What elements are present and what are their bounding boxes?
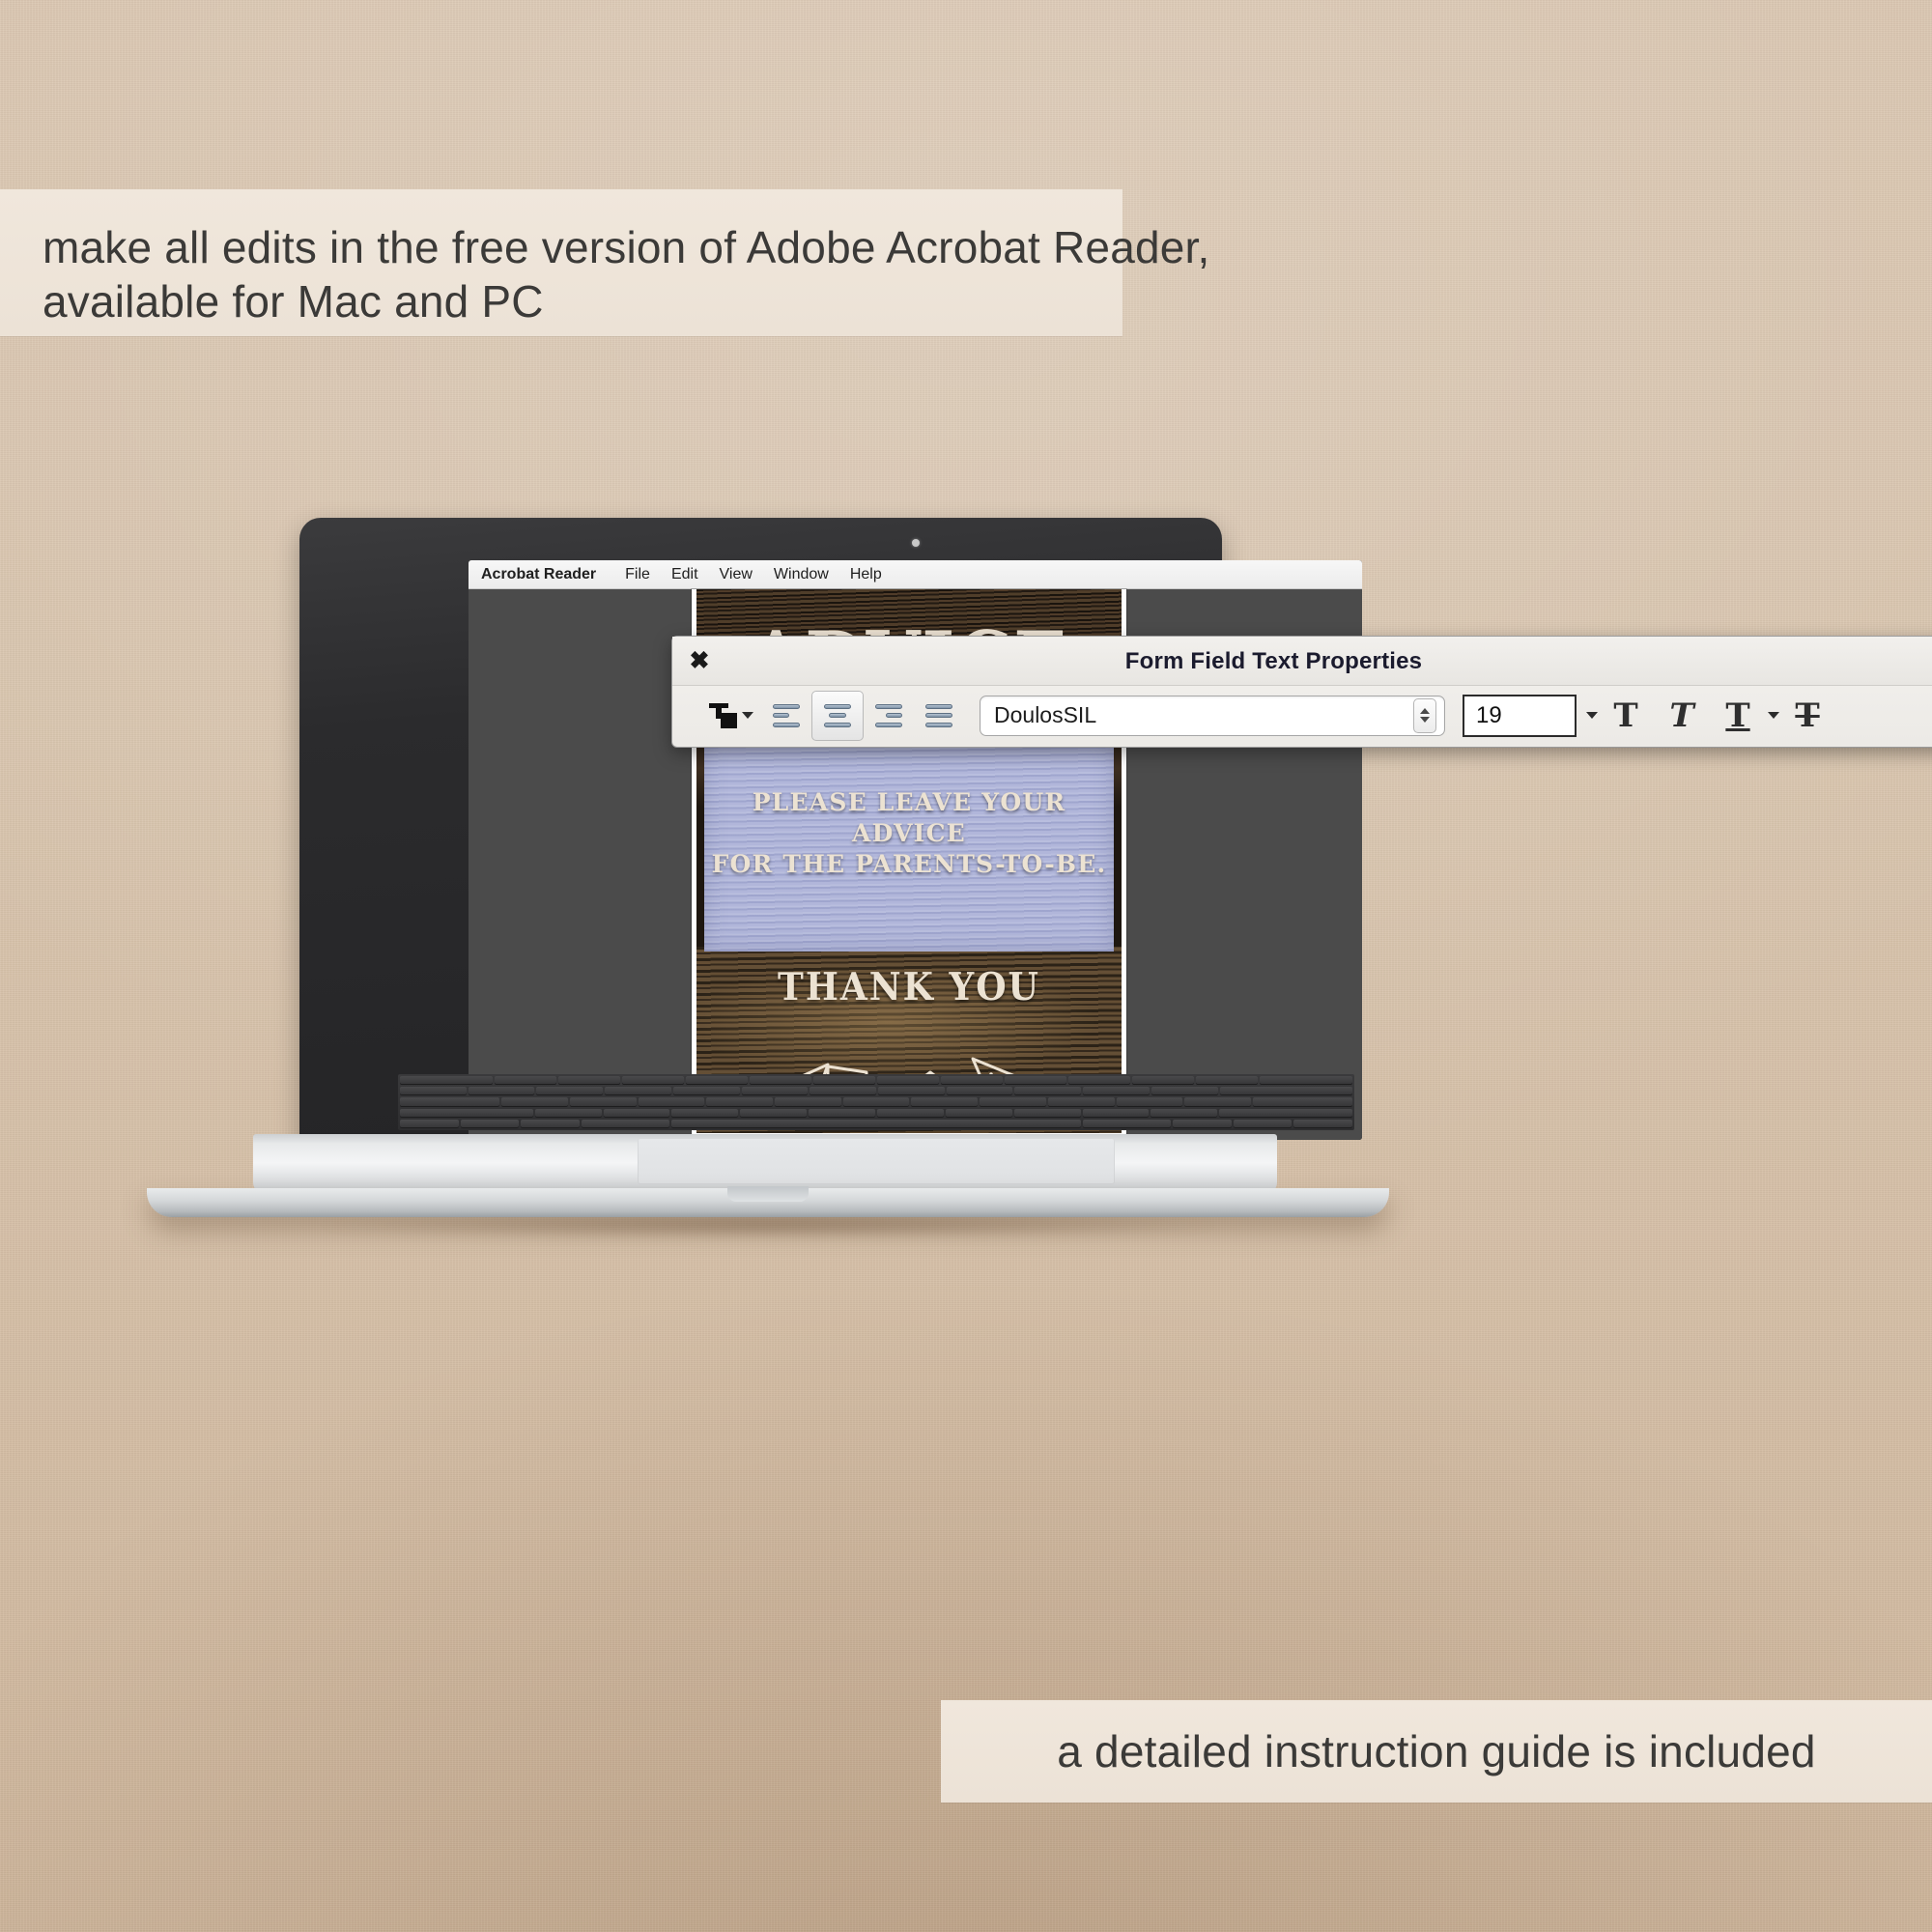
- key: [673, 1087, 740, 1095]
- key: [400, 1087, 467, 1095]
- laptop-lid: Acrobat Reader File Edit View Window Hel…: [299, 518, 1222, 1148]
- dialog-title-bar: ✖ Form Field Text Properties: [672, 637, 1932, 686]
- pdf-body-text: PLEASE LEAVE YOUR ADVICE FOR THE PARENTS…: [696, 787, 1122, 880]
- keyboard-row-numbers: [400, 1087, 1352, 1095]
- key: [1132, 1076, 1194, 1085]
- pdf-body-line-1: PLEASE LEAVE YOUR ADVICE: [696, 787, 1122, 849]
- key: [570, 1097, 637, 1106]
- key: [1196, 1076, 1258, 1085]
- key: [740, 1109, 807, 1118]
- key: [686, 1076, 748, 1085]
- key: [750, 1076, 811, 1085]
- key: [878, 1087, 945, 1095]
- align-left-button[interactable]: [761, 692, 811, 740]
- key: [622, 1076, 684, 1085]
- key: [810, 1087, 876, 1095]
- key: [1234, 1120, 1293, 1128]
- key: [1219, 1109, 1352, 1118]
- align-justify-icon: [925, 704, 952, 727]
- key: [877, 1109, 944, 1118]
- key: [1220, 1087, 1352, 1095]
- webcam-icon: [912, 539, 920, 547]
- lid-notch: [727, 1186, 809, 1202]
- key: [558, 1076, 620, 1085]
- key: [671, 1109, 738, 1118]
- text-color-icon: [707, 700, 740, 731]
- key: [461, 1120, 520, 1128]
- menu-item-file[interactable]: File: [625, 566, 666, 583]
- form-field-text-properties-dialog: ✖ Form Field Text Properties: [671, 636, 1932, 748]
- align-center-button[interactable]: [811, 691, 864, 741]
- key: [1253, 1097, 1352, 1106]
- underline-chevron-down-icon[interactable]: [1768, 712, 1779, 719]
- key: [1173, 1120, 1232, 1128]
- laptop-mockup: Acrobat Reader File Edit View Window Hel…: [145, 518, 1391, 1213]
- key: [605, 1087, 671, 1095]
- align-center-icon: [824, 704, 851, 727]
- keyboard-row-function: [400, 1076, 1352, 1085]
- font-family-select[interactable]: DoulosSIL: [980, 696, 1445, 736]
- key: [604, 1109, 670, 1118]
- menu-item-window[interactable]: Window: [774, 566, 844, 583]
- font-family-value: DoulosSIL: [994, 702, 1096, 728]
- dialog-toolbar: DoulosSIL 19 T T T T: [672, 685, 1932, 746]
- key: [980, 1097, 1046, 1106]
- key: [911, 1097, 978, 1106]
- key: [1014, 1087, 1081, 1095]
- key: [775, 1097, 841, 1106]
- key-space: [671, 1120, 1081, 1128]
- key: [1293, 1120, 1352, 1128]
- key: [521, 1120, 580, 1128]
- key: [1083, 1120, 1171, 1128]
- bottom-caption-banner: a detailed instruction guide is included: [941, 1700, 1932, 1803]
- key: [809, 1109, 875, 1118]
- keyboard-row-qwerty: [400, 1097, 1352, 1106]
- text-color-button[interactable]: [699, 692, 761, 740]
- key: [843, 1097, 910, 1106]
- underline-button[interactable]: T: [1710, 692, 1766, 740]
- key: [1005, 1076, 1066, 1085]
- trackpad: [638, 1138, 1115, 1184]
- key: [469, 1087, 535, 1095]
- top-caption-line-1: make all edits in the free version of Ad…: [43, 220, 1122, 274]
- key: [1117, 1097, 1183, 1106]
- select-stepper-icon: [1413, 698, 1436, 733]
- menu-item-edit[interactable]: Edit: [671, 566, 714, 583]
- keyboard-row-home: [400, 1109, 1352, 1118]
- key: [1260, 1076, 1352, 1085]
- key: [742, 1087, 809, 1095]
- laptop-base-top: [253, 1134, 1277, 1194]
- key: [1184, 1097, 1251, 1106]
- top-caption-line-2: available for Mac and PC: [43, 274, 1122, 328]
- italic-button[interactable]: T: [1654, 692, 1710, 740]
- strikethrough-button[interactable]: T: [1779, 692, 1835, 740]
- align-left-icon: [773, 704, 800, 727]
- key: [813, 1076, 875, 1085]
- key: [536, 1087, 603, 1095]
- menu-item-view[interactable]: View: [720, 566, 768, 583]
- key: [946, 1109, 1012, 1118]
- align-right-button[interactable]: [864, 692, 914, 740]
- align-justify-button[interactable]: [914, 692, 964, 740]
- key: [1048, 1097, 1115, 1106]
- key: [1083, 1087, 1150, 1095]
- key: [400, 1076, 493, 1085]
- bottom-caption-text: a detailed instruction guide is included: [1057, 1725, 1815, 1777]
- key: [535, 1109, 602, 1118]
- bold-button[interactable]: T: [1598, 692, 1654, 740]
- font-size-chevron-down-icon[interactable]: [1586, 712, 1598, 719]
- menu-item-acrobat-reader[interactable]: Acrobat Reader: [481, 566, 611, 583]
- key: [400, 1097, 499, 1106]
- menu-bar: Acrobat Reader File Edit View Window Hel…: [469, 560, 1362, 589]
- font-size-value: 19: [1476, 702, 1502, 729]
- key: [947, 1087, 1013, 1095]
- key: [1068, 1076, 1130, 1085]
- key: [400, 1109, 533, 1118]
- pdf-body-line-2: FOR THE PARENTS-TO-BE.: [696, 849, 1122, 880]
- align-right-icon: [875, 704, 902, 727]
- pdf-thankyou-text: THANK YOU: [696, 967, 1122, 1008]
- key: [1151, 1087, 1218, 1095]
- key: [1014, 1109, 1081, 1118]
- keyboard: [398, 1074, 1354, 1130]
- dialog-title: Form Field Text Properties: [672, 648, 1875, 675]
- key: [1151, 1109, 1217, 1118]
- top-caption-banner: make all edits in the free version of Ad…: [0, 189, 1122, 336]
- key: [582, 1120, 669, 1128]
- key: [400, 1120, 459, 1128]
- key: [639, 1097, 705, 1106]
- key: [877, 1076, 939, 1085]
- chevron-down-icon: [742, 712, 753, 719]
- key: [501, 1097, 568, 1106]
- keyboard-row-modifiers: [400, 1120, 1352, 1128]
- menu-item-help[interactable]: Help: [850, 566, 897, 583]
- key: [495, 1076, 556, 1085]
- key: [941, 1076, 1003, 1085]
- key: [1083, 1109, 1150, 1118]
- laptop-base: [145, 1134, 1391, 1217]
- font-size-input[interactable]: 19: [1463, 695, 1577, 737]
- key: [706, 1097, 773, 1106]
